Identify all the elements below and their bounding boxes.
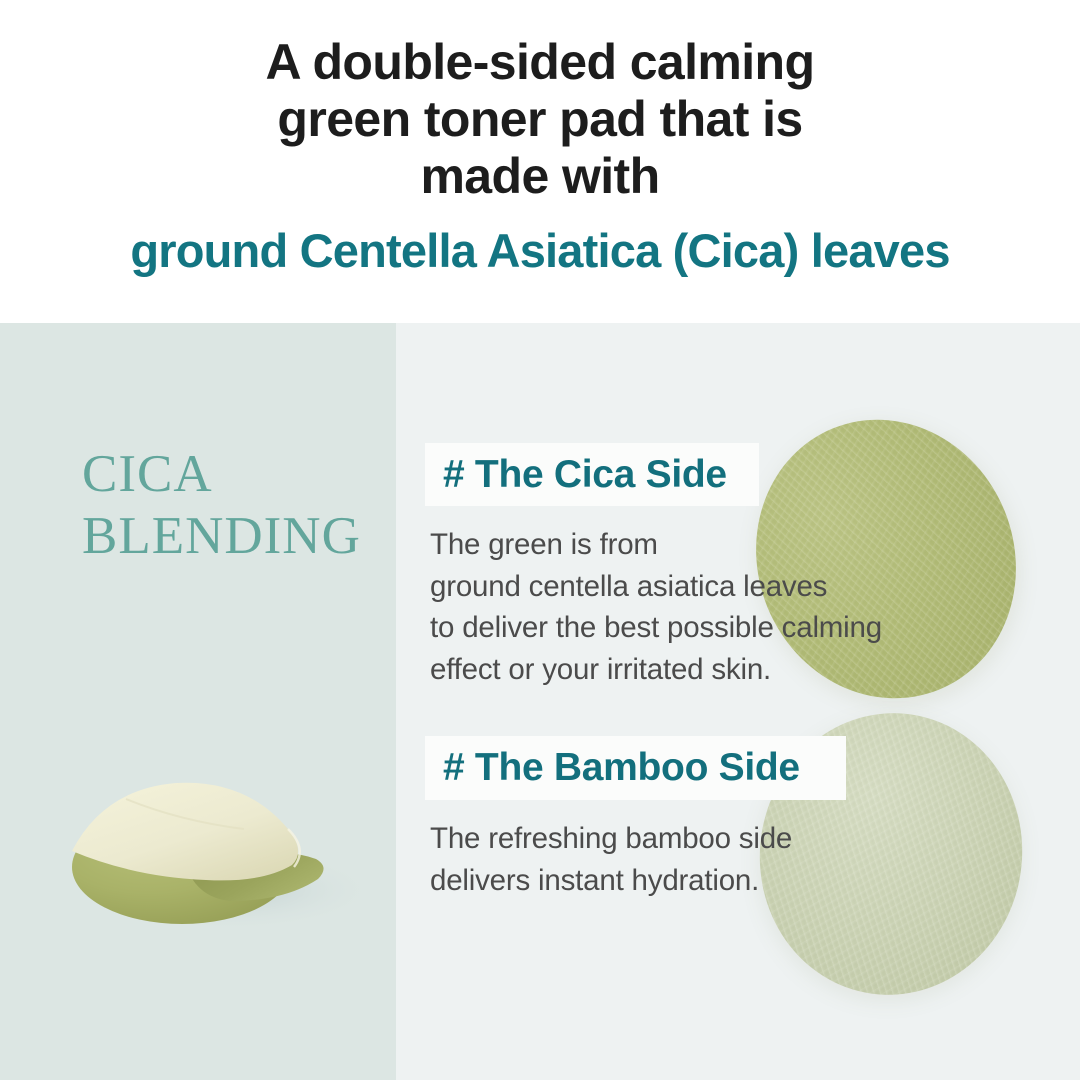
brand-label-line-2: BLENDING [82, 505, 382, 567]
product-infographic-page: A double-sided calming green toner pad t… [0, 0, 1080, 1080]
header-section: A double-sided calming green toner pad t… [0, 0, 1080, 323]
headline-line-3: made with [0, 148, 1080, 205]
headline-line-1: A double-sided calming [0, 34, 1080, 91]
section-badge-cica-label: # The Cica Side [443, 453, 727, 497]
brand-label-line-1: CICA [82, 443, 382, 505]
right-panel [396, 323, 1080, 1080]
section-badge-bamboo-label: # The Bamboo Side [443, 746, 800, 790]
section-body-bamboo-side: The refreshing bamboo side delivers inst… [430, 818, 950, 901]
headline-accent-line: ground Centella Asiatica (Cica) leaves [0, 224, 1080, 278]
brand-label-cica-blending: CICA BLENDING [82, 443, 382, 567]
section-body-cica-side: The green is from ground centella asiati… [430, 524, 990, 690]
folded-pad-illustration [30, 755, 390, 955]
left-panel [0, 323, 396, 1080]
section-badge-cica-side: # The Cica Side [425, 443, 759, 506]
section-badge-bamboo-side: # The Bamboo Side [425, 736, 846, 800]
headline-line-2: green toner pad that is [0, 91, 1080, 148]
product-photo-folded-pad [30, 755, 390, 955]
